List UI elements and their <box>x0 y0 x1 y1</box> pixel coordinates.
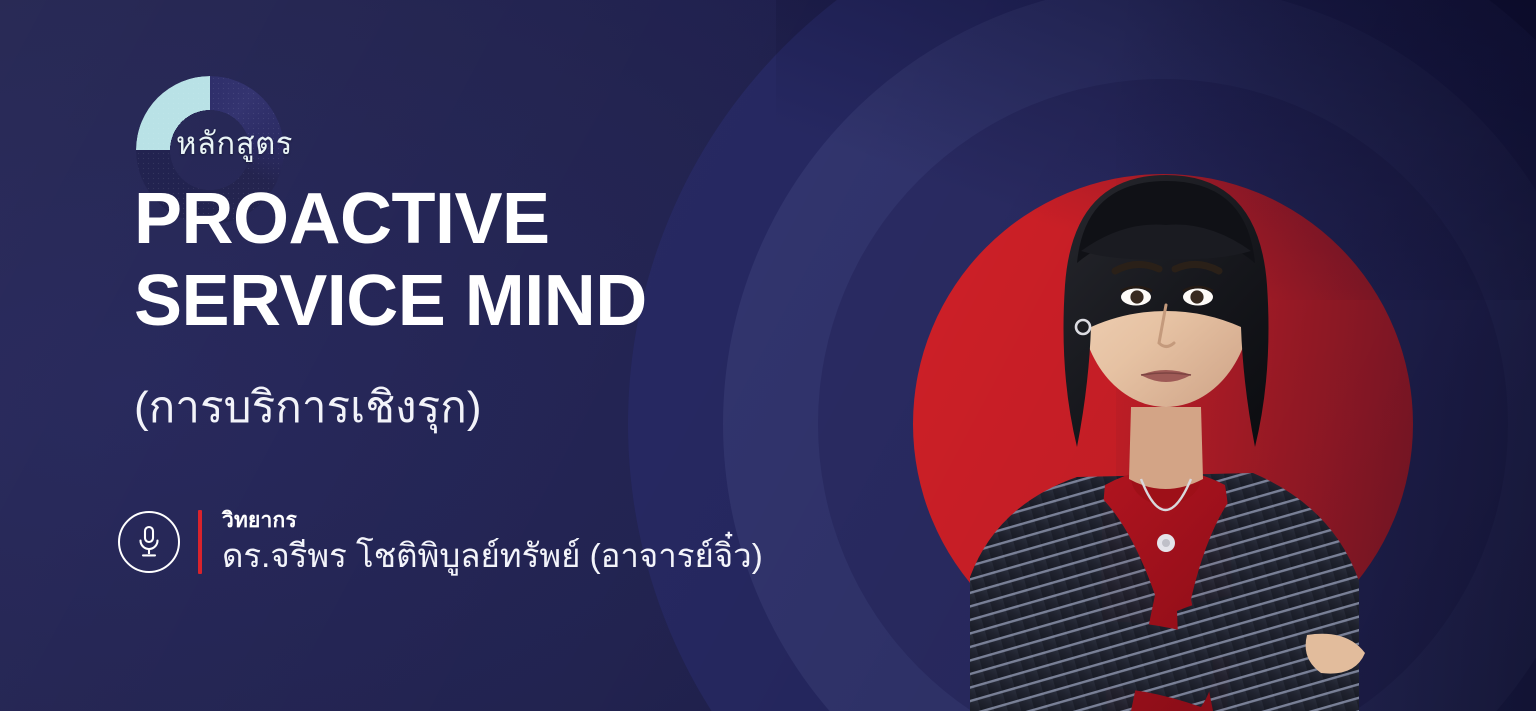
speaker-role-label: วิทยากร <box>222 509 763 534</box>
speaker-portrait-image <box>955 55 1375 711</box>
course-badge-label: หลักสูตร <box>176 118 293 168</box>
page-title: PROACTIVE SERVICE MIND <box>134 178 894 342</box>
speaker-block: วิทยากร ดร.จรีพร โชติพิบูลย์ทรัพย์ (อาจา… <box>118 509 763 575</box>
right-shade-overlay <box>1116 0 1536 711</box>
banner-text-content: หลักสูตร PROACTIVE SERVICE MIND (การบริก… <box>132 0 892 711</box>
course-promo-banner: หลักสูตร PROACTIVE SERVICE MIND (การบริก… <box>0 0 1536 711</box>
course-badge: หลักสูตร <box>132 76 462 168</box>
subtitle-thai: (การบริการเชิงรุก) <box>134 372 482 442</box>
speaker-name: ดร.จรีพร โชติพิบูลย์ทรัพย์ (อาจารย์จิ๋ว) <box>222 536 763 576</box>
ring-inner-navy <box>818 79 1508 711</box>
headline-line-2: SERVICE MIND <box>134 260 894 342</box>
speaker-details: วิทยากร ดร.จรีพร โชติพิบูลย์ทรัพย์ (อาจา… <box>222 509 763 575</box>
microphone-icon <box>118 511 180 573</box>
ring-red-circle <box>913 174 1413 674</box>
speaker-divider <box>198 510 202 574</box>
headline-line-1: PROACTIVE <box>134 179 550 259</box>
